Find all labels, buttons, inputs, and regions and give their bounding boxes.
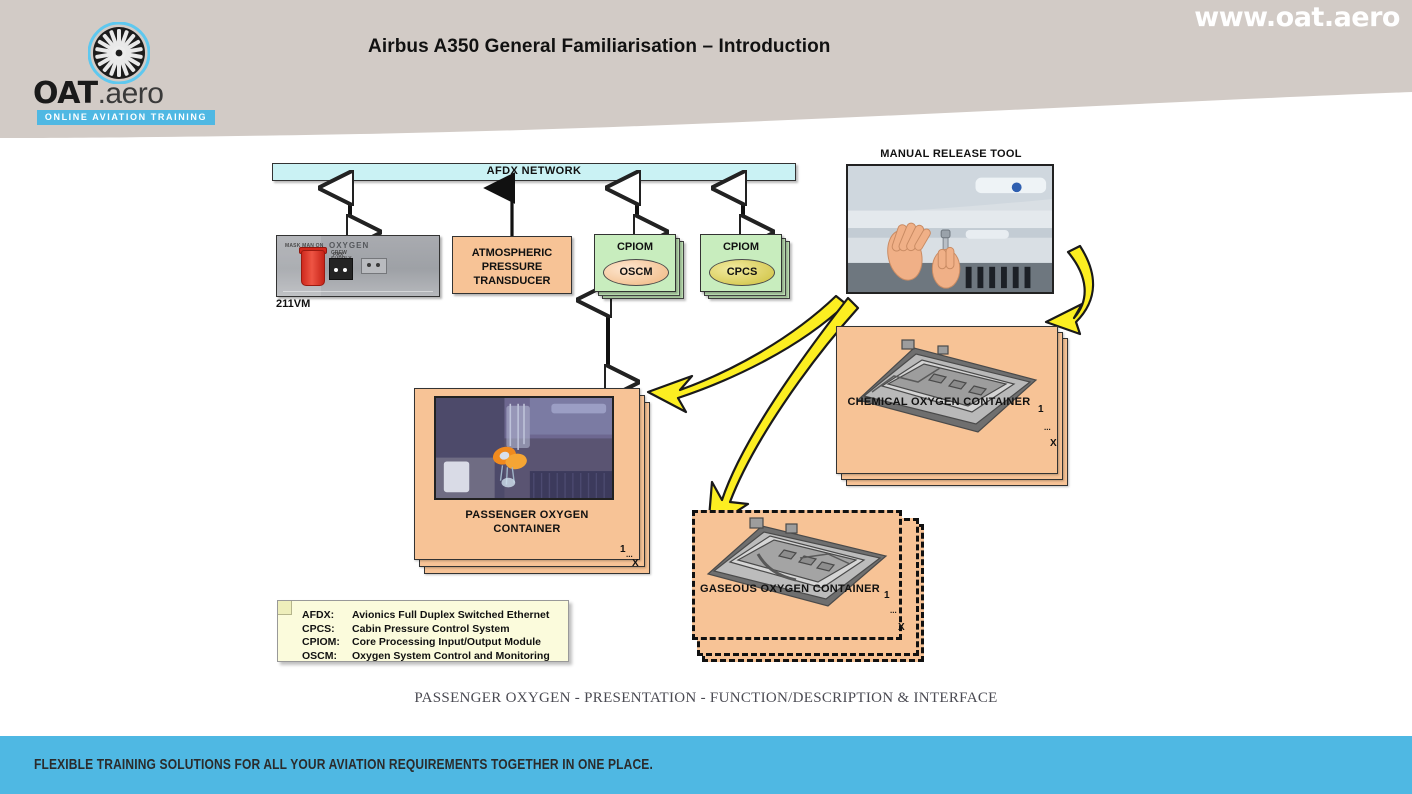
gaseous-container-illustration	[700, 514, 894, 612]
cpiom-oscm-title: CPIOM	[595, 241, 675, 253]
pax-index-first: 1	[620, 544, 626, 555]
cpcs-badge: CPCS	[709, 259, 775, 286]
logo-tagline: ONLINE AVIATION TRAINING	[37, 110, 215, 125]
chem-index-mid: ...	[1044, 423, 1051, 432]
apt-line-1: ATMOSPHERIC	[453, 246, 571, 260]
legend-text: Avionics Full Duplex Switched Ethernet	[352, 609, 549, 621]
site-url-text: www.oat.aero	[1194, 2, 1400, 33]
oscm-badge: OSCM	[603, 259, 669, 286]
apt-line-2: PRESSURE	[453, 260, 571, 274]
chemical-container-illustration	[848, 334, 1046, 440]
logo-oat-text: OAT	[33, 76, 98, 111]
chem-index-first: 1	[1038, 404, 1044, 415]
manual-release-tool-title: MANUAL RELEASE TOOL	[846, 148, 1056, 160]
panel-pax-indicator[interactable]	[329, 258, 353, 280]
logo-aero-text: aero	[105, 77, 163, 110]
logo-wordmark: OAT.aero	[33, 80, 215, 108]
gas-index-last: X	[898, 622, 905, 633]
slide-content: AFDX NETWORK	[0, 140, 1412, 730]
panel-crew-supply-indicator[interactable]	[361, 258, 387, 274]
abbreviation-legend-box: AFDX:Avionics Full Duplex Switched Ether…	[277, 600, 569, 662]
pax-index-last: X	[632, 558, 639, 569]
legend-row: OSCM:Oxygen System Control and Monitorin…	[302, 650, 550, 664]
page-title: Airbus A350 General Familiarisation – In…	[368, 36, 831, 58]
cpiom-cpcs-title: CPIOM	[701, 241, 781, 253]
footer-tagline: FLEXIBLE TRAINING SOLUTIONS FOR ALL YOUR…	[34, 756, 653, 773]
legend-row: CPIOM:Core Processing Input/Output Modul…	[302, 636, 550, 650]
gas-index-first: 1	[884, 590, 890, 601]
gas-index-mid: ...	[890, 606, 897, 615]
legend-abbr: CPCS:	[302, 623, 352, 637]
pax-label-line-1: PASSENGER OXYGEN	[414, 508, 640, 522]
afdx-network-bus: AFDX NETWORK	[272, 163, 796, 181]
oxygen-control-panel-211vm: OXYGEN MASK MAN ON CREW SUPPLY PAX	[276, 235, 440, 297]
legend-abbr: AFDX:	[302, 609, 352, 623]
cpiom-cpcs-node: CPIOM CPCS	[700, 234, 782, 292]
pax-label-line-2: CONTAINER	[414, 522, 640, 536]
legend-row: CPCS:Cabin Pressure Control System	[302, 623, 550, 637]
passenger-oxygen-container-label: PASSENGER OXYGEN CONTAINER	[414, 508, 640, 536]
panel-mask-man-on-switch[interactable]	[301, 250, 325, 286]
turbine-fan-icon	[88, 22, 150, 84]
legend-abbr: CPIOM:	[302, 636, 352, 650]
legend-text: Core Processing Input/Output Module	[352, 636, 541, 648]
apt-line-3: TRANSDUCER	[453, 274, 571, 288]
gaseous-oxygen-container-label: GASEOUS OXYGEN CONTAINER	[692, 583, 888, 595]
legend-row: AFDX:Avionics Full Duplex Switched Ether…	[302, 609, 550, 623]
manual-release-tool-photo	[846, 164, 1054, 294]
slide-header: www.oat.aero Airbus A350 General Familia…	[0, 0, 1412, 140]
panel-211vm-caption: 211VM	[276, 298, 310, 310]
slide-footer: FLEXIBLE TRAINING SOLUTIONS FOR ALL YOUR…	[0, 736, 1412, 794]
passenger-cabin-photo	[434, 396, 614, 500]
cpiom-oscm-node: CPIOM OSCM	[594, 234, 676, 292]
oat-aero-logo: OAT.aero ONLINE AVIATION TRAINING	[33, 22, 215, 126]
diagram-caption: PASSENGER OXYGEN - PRESENTATION - FUNCTI…	[0, 690, 1412, 707]
legend-text: Cabin Pressure Control System	[352, 623, 510, 635]
legend-abbr: OSCM:	[302, 650, 352, 664]
chemical-oxygen-container-label: CHEMICAL OXYGEN CONTAINER	[836, 396, 1042, 408]
yellow-arrow-to-passenger-container	[648, 296, 846, 412]
atmospheric-pressure-transducer-node: ATMOSPHERIC PRESSURE TRANSDUCER	[452, 236, 572, 294]
legend-folded-corner	[278, 601, 292, 615]
panel-oxygen-label: OXYGEN	[329, 241, 369, 250]
chem-index-last: X	[1050, 438, 1057, 449]
legend-text: Oxygen System Control and Monitoring	[352, 650, 550, 662]
